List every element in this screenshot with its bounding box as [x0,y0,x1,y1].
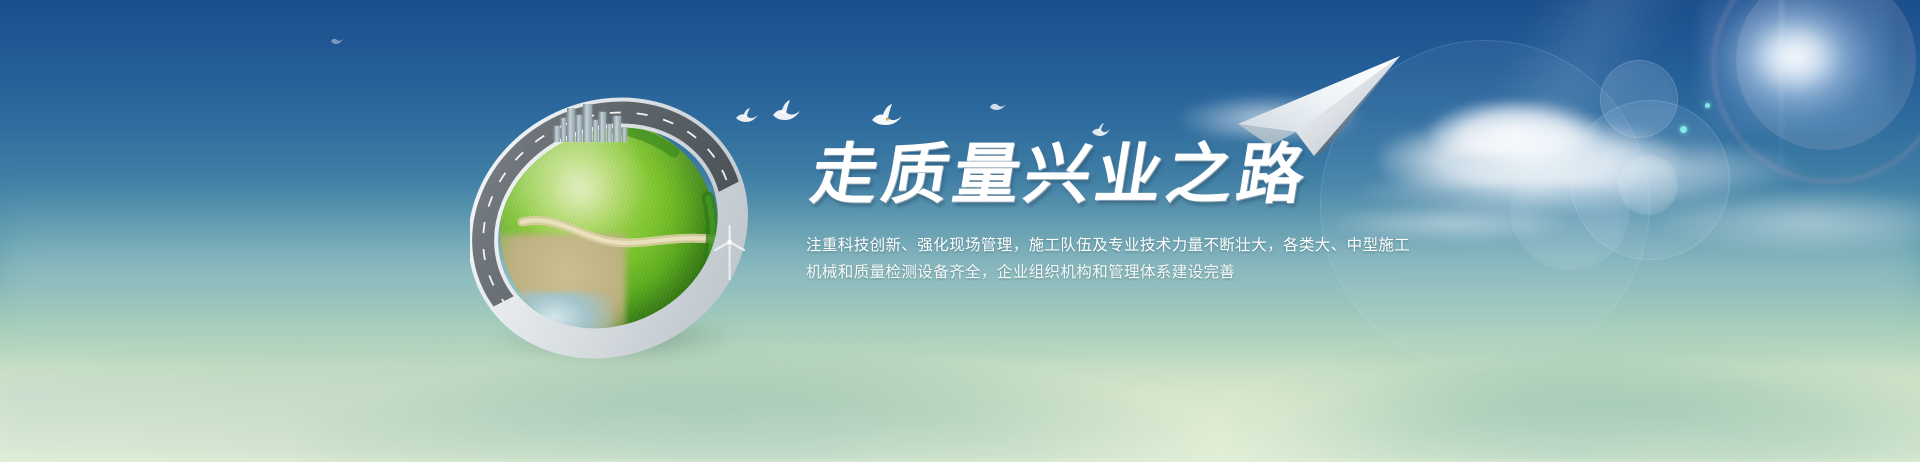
flying-dove-icon [330,34,344,45]
hero-banner: 走质量兴业之路 注重科技创新、强化现场管理，施工队伍及专业技术力量不断壮大，各类… [0,0,1920,462]
banner-copy: 走质量兴业之路 注重科技创新、强化现场管理，施工队伍及专业技术力量不断壮大，各类… [806,138,1506,286]
sun-flare-dot [1705,103,1710,108]
green-grass-globe [470,96,770,366]
flying-dove-icon [868,98,908,128]
sun-icon [1700,0,1890,132]
flying-dove-icon [1090,120,1112,137]
flying-dove-icon [988,96,1008,111]
hill-mist-overlay [0,352,1920,462]
flying-dove-icon [770,96,804,122]
subtitle-line: 机械和质量检测设备齐全，企业组织机构和管理体系建设完善 [806,259,1506,286]
city-skyline [554,102,628,142]
page-title: 走质量兴业之路 [806,138,1518,212]
wind-turbine-icon [710,224,750,282]
subtitle-line: 注重科技创新、强化现场管理，施工队伍及专业技术力量不断壮大，各类大、中型施工 [806,232,1506,259]
banner-subtitle: 注重科技创新、强化现场管理，施工队伍及专业技术力量不断壮大，各类大、中型施工 机… [806,232,1506,286]
sun-flare-dot [1680,126,1687,133]
